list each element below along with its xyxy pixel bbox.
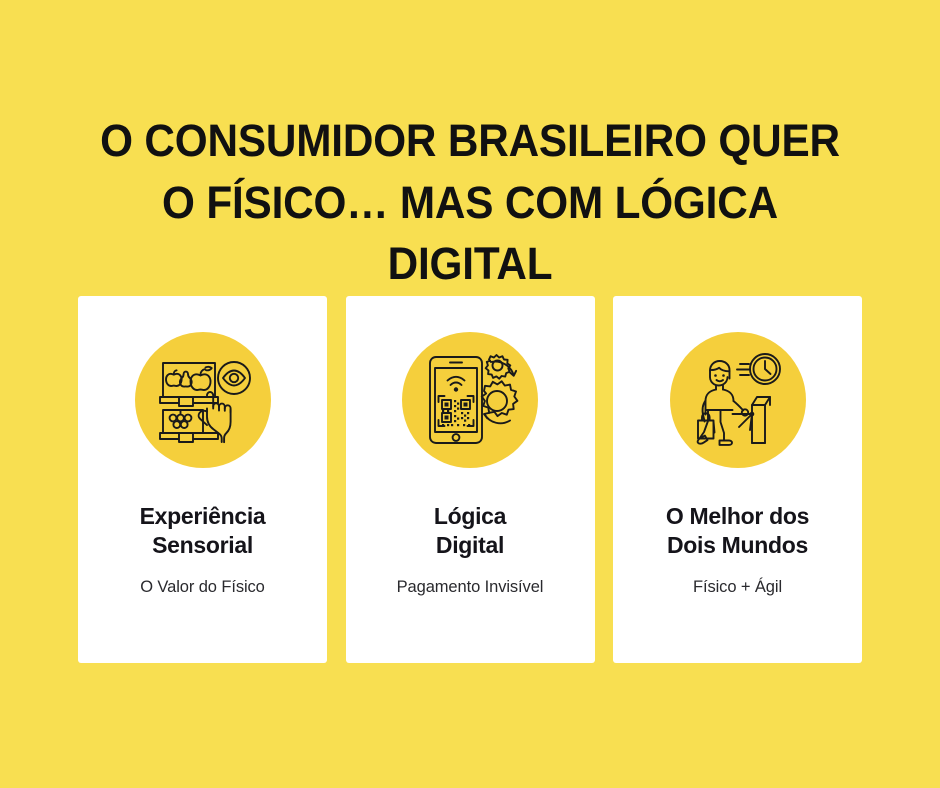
card-title: O Melhor dos Dois Mundos — [656, 502, 819, 561]
poster-canvas: O CONSUMIDOR BRASILEIRO QUER O FÍSICO… M… — [0, 0, 940, 788]
card-title: Lógica Digital — [424, 502, 516, 561]
page-title: O CONSUMIDOR BRASILEIRO QUER O FÍSICO… M… — [28, 110, 912, 295]
card-row: Experiência Sensorial O Valor do Físico — [78, 296, 862, 663]
shopper-turnstile-clock-icon — [686, 348, 790, 452]
card-melhor-dos-dois-mundos[interactable]: O Melhor dos Dois Mundos Físico + Ágil — [613, 296, 862, 663]
card-logica-digital[interactable]: Lógica Digital Pagamento Invisível — [346, 296, 595, 663]
icon-circle-3 — [670, 332, 806, 468]
icon-circle-1 — [135, 332, 271, 468]
icon-circle-2 — [402, 332, 538, 468]
card-experiencia-sensorial[interactable]: Experiência Sensorial O Valor do Físico — [78, 296, 327, 663]
card-subtitle: Pagamento Invisível — [389, 577, 552, 598]
card-title: Experiência Sensorial — [130, 502, 276, 561]
shelf-fruit-hand-eye-icon — [151, 348, 255, 452]
card-subtitle: Físico + Ágil — [685, 577, 790, 598]
smartphone-qrcode-gears-icon — [418, 348, 522, 452]
card-subtitle: O Valor do Físico — [132, 577, 273, 598]
